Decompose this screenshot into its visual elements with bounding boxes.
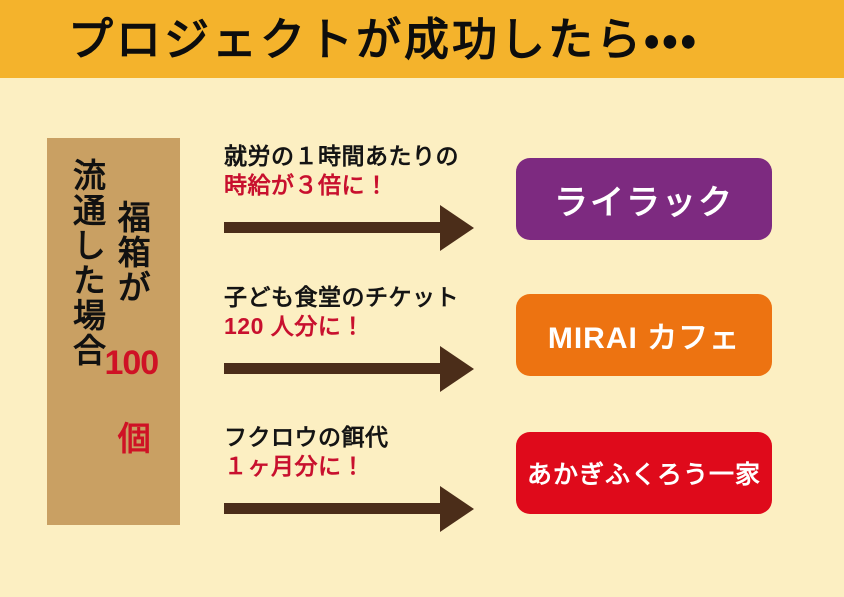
right-arrow-icon (224, 205, 490, 251)
arrow-shaft (224, 363, 446, 374)
outcome-caption-red-3: １ヶ月分に！ (224, 452, 494, 481)
outcome-row-1: 就労の１時間あたりの 時給が３倍に！ (224, 142, 494, 251)
condition-column-right: 福箱が 100 個 (104, 200, 158, 456)
outcome-caption-black-3: フクロウの餌代 (224, 423, 494, 452)
condition-vertical-text: 福箱が 100 個 流通した場合 (47, 138, 180, 525)
condition-panel: 福箱が 100 個 流通した場合 (47, 138, 180, 525)
outcome-caption-black-2: 子ども食堂のチケット (224, 283, 494, 312)
arrow-head (440, 486, 474, 532)
outcome-caption-red-1: 時給が３倍に！ (224, 171, 494, 200)
poster-root: プロジェクトが成功したら・・・ 福箱が 100 個 流通した場合 就労の１時間あ… (0, 0, 844, 597)
beneficiary-card-mirai-cafe: MIRAI カフェ (516, 294, 772, 376)
outcome-row-3: フクロウの餌代 １ヶ月分に！ (224, 423, 494, 532)
arrow-head (440, 205, 474, 251)
header-banner: プロジェクトが成功したら・・・ (0, 0, 844, 78)
outcome-row-2: 子ども食堂のチケット 120 人分に！ (224, 283, 494, 392)
outcome-caption-red-2: 120 人分に！ (224, 312, 494, 341)
condition-prefix: 福箱が (113, 200, 150, 305)
condition-counter: 個 (113, 421, 150, 456)
right-arrow-icon (224, 346, 490, 392)
condition-column-left: 流通した場合 (69, 158, 105, 368)
beneficiary-card-lilac: ライラック (516, 158, 772, 240)
arrow-head (440, 346, 474, 392)
page-title: プロジェクトが成功したら・・・ (68, 17, 699, 62)
outcome-caption-black-1: 就労の１時間あたりの (224, 142, 494, 171)
right-arrow-icon (224, 486, 490, 532)
arrow-shaft (224, 503, 446, 514)
arrow-shaft (224, 222, 446, 233)
beneficiary-card-akagi-fukurou: あかぎふくろう一家 (516, 432, 772, 514)
condition-number: 100 (104, 346, 158, 380)
